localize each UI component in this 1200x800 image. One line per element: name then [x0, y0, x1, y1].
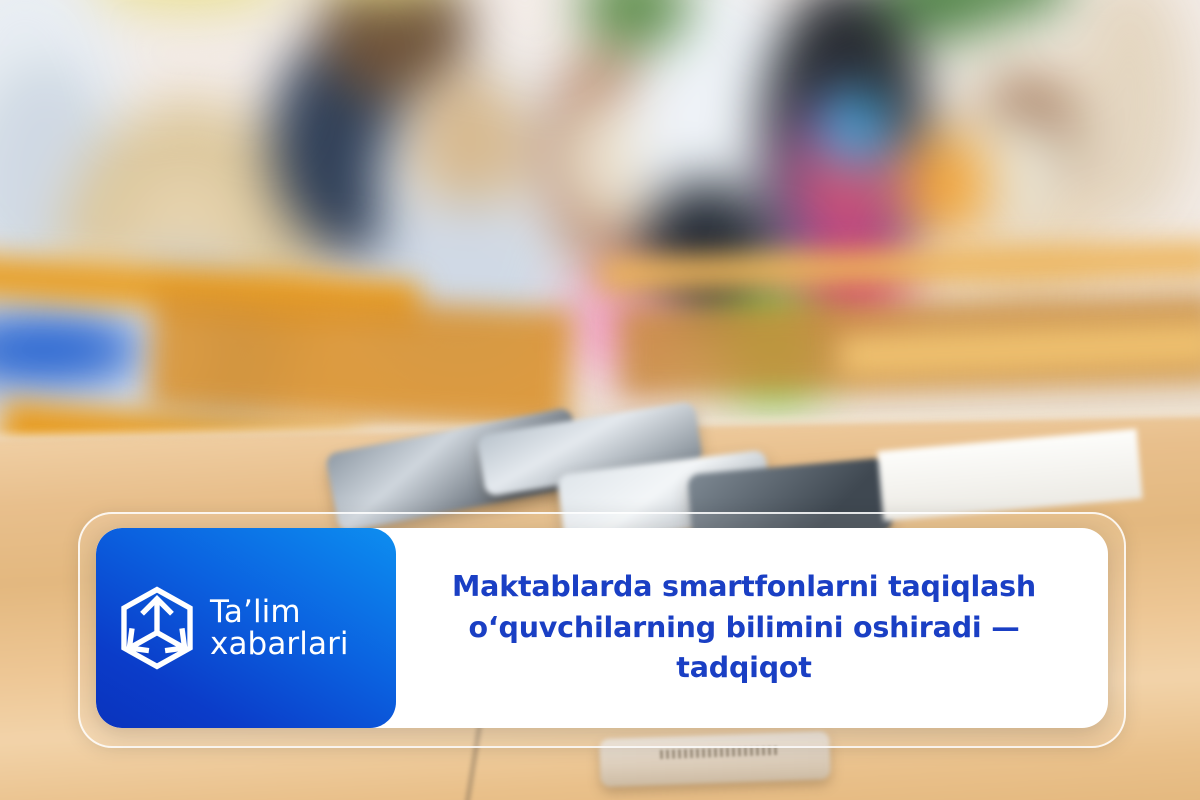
brand-name-line2: xabarlari — [210, 628, 349, 660]
classroom-desk-row — [147, 289, 573, 431]
cube-outline-arrows-icon — [118, 585, 196, 671]
headline-line-2: o‘quvchilarning bilimini oshiradi — tadq… — [406, 608, 1082, 689]
brand-name: Ta’lim xabarlari — [210, 596, 349, 660]
headline-container: Maktablarda smartfonlarni taqiqlash o‘qu… — [396, 528, 1108, 728]
headline-text: Maktablarda smartfonlarni taqiqlash o‘qu… — [406, 567, 1082, 688]
headline-card: Ta’lim xabarlari Maktablarda smartfonlar… — [96, 528, 1108, 728]
news-banner: Ta’lim xabarlari Maktablarda smartfonlar… — [0, 0, 1200, 800]
brand-logo-tile[interactable]: Ta’lim xabarlari — [96, 528, 396, 728]
headline-line-1: Maktablarda smartfonlarni taqiqlash — [452, 570, 1036, 603]
brand-name-line1: Ta’lim — [210, 596, 349, 628]
